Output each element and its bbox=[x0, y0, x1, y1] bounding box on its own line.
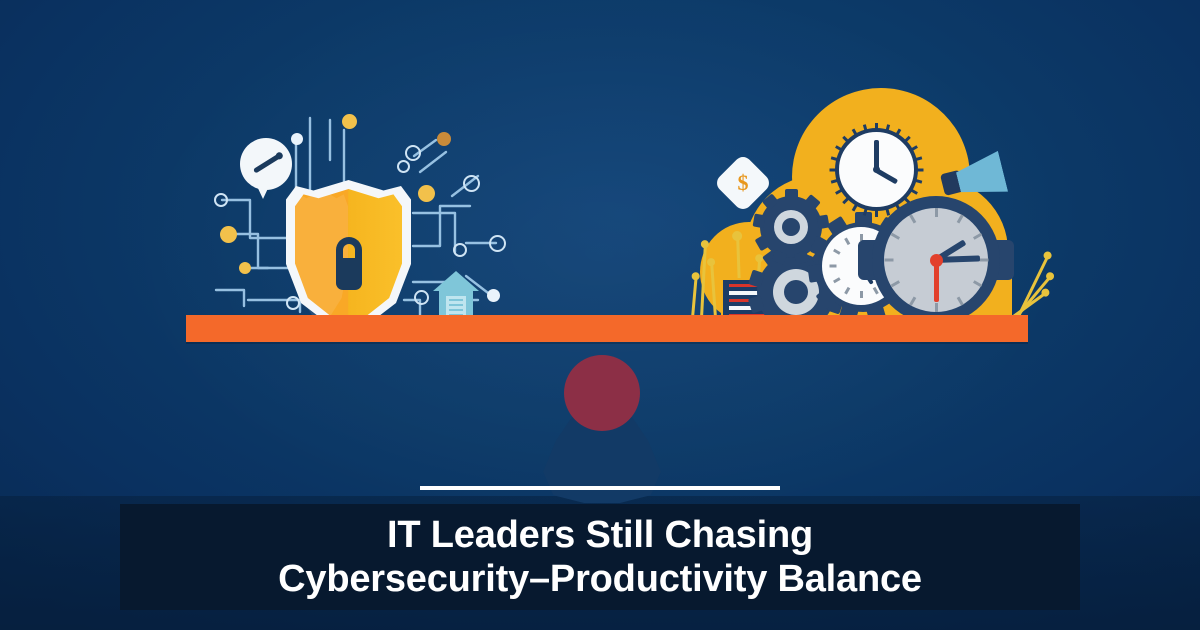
fulcrum bbox=[538, 355, 666, 503]
dollar-symbol: $ bbox=[722, 162, 764, 204]
title-divider bbox=[420, 486, 780, 490]
balance-beam bbox=[186, 315, 1028, 342]
page-title-line-1: IT Leaders Still Chasing bbox=[387, 513, 813, 557]
clock-tick bbox=[935, 208, 938, 260]
stopwatch-icon bbox=[872, 196, 1000, 324]
page-title-line-2: Cybersecurity–Productivity Balance bbox=[278, 557, 922, 601]
title-banner: IT Leaders Still Chasing Cybersecurity–P… bbox=[120, 504, 1080, 610]
clock-center bbox=[873, 166, 880, 173]
fulcrum-pivot bbox=[564, 355, 640, 431]
clock-tick bbox=[884, 259, 936, 262]
megaphone-cone bbox=[953, 151, 1008, 203]
right-productivity-cluster: $ bbox=[660, 60, 1080, 345]
share-card-canvas: $ bbox=[0, 0, 1200, 630]
pin-marker-icon bbox=[691, 276, 695, 318]
clock-hour-hand bbox=[874, 140, 879, 170]
